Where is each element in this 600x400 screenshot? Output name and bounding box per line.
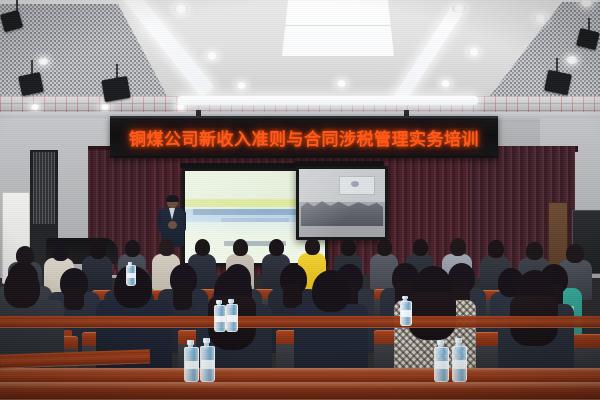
attendee-head [377,239,392,256]
attendee-head [159,239,174,256]
attendee-head [4,268,40,308]
attendee-head [566,244,584,263]
ceiling-downlight [336,80,347,87]
ceiling-downlight [468,48,480,56]
presenter-hands [168,221,177,229]
ceiling-downlight [206,52,218,60]
bottle-body [400,301,412,326]
bottle-body [184,347,199,382]
water-bottle [200,338,213,382]
bottle-label [215,316,225,322]
attendee-head [195,239,210,256]
ceiling-downlight [30,104,40,110]
attendee-hair [173,284,192,310]
presenter-hair [166,195,179,202]
video-feed-glare [299,169,385,237]
ceiling-downlight [440,80,451,87]
water-bottle [452,338,465,382]
bottle-label [435,361,448,370]
water-bottle [226,299,236,332]
ceiling-downlight [176,104,186,110]
bottle-body [214,305,226,332]
conference-hall-photo: 铜煤公司新收入准则与合同涉税管理实务培训 [0,0,600,400]
table-mid-row [0,316,600,328]
attendee-head [450,238,466,256]
ceiling-downlight [566,56,578,64]
ceiling-downlight [38,58,49,65]
water-bottle [434,340,447,382]
attendee-head [125,240,140,257]
panel-light [282,0,394,56]
bottle-body [434,347,449,382]
attendee-head [488,240,504,258]
attendee-head [526,242,543,260]
attendee-head [269,239,284,256]
attendee-head [312,270,350,312]
bottle-label [127,273,135,278]
bottle-label [185,361,198,370]
bottle-body [200,346,215,382]
stage-light [101,76,130,102]
ceiling-downlight [236,82,247,89]
led-strip-center [178,96,478,105]
bottle-label [201,360,214,369]
ceiling-downlight [452,4,466,13]
doorway-curtain [33,152,55,224]
attendee-head [305,238,320,255]
attendee-head [341,239,356,256]
table-highlight [0,382,600,389]
bottle-body [226,304,238,332]
table-foreground [0,382,600,400]
attendee-head [52,243,69,261]
bottle-label [401,310,411,316]
water-bottle [400,296,410,326]
led-banner: 铜煤公司新收入准则与合同涉税管理实务培训 [110,116,498,158]
bottle-body [126,265,136,286]
attendee-head [233,239,248,256]
water-bottle [184,340,197,382]
video-feed-content [299,169,385,237]
bottle-label [227,315,237,322]
bottle-body [452,346,467,382]
ceiling-downlight [534,14,547,23]
attendee-head [413,239,428,256]
attendee-head [90,241,106,259]
water-bottle [214,300,224,332]
panel-light-seam [282,25,394,26]
bottle-label [453,360,466,369]
ceiling-downlight [100,104,110,110]
water-bottle [126,262,134,286]
led-banner-text: 铜煤公司新收入准则与合同涉税管理实务培训 [129,125,479,150]
table-highlight [0,368,600,374]
attendee-hair [64,288,84,310]
ceiling-downlight [174,4,188,14]
projection-screen-video [296,166,388,240]
